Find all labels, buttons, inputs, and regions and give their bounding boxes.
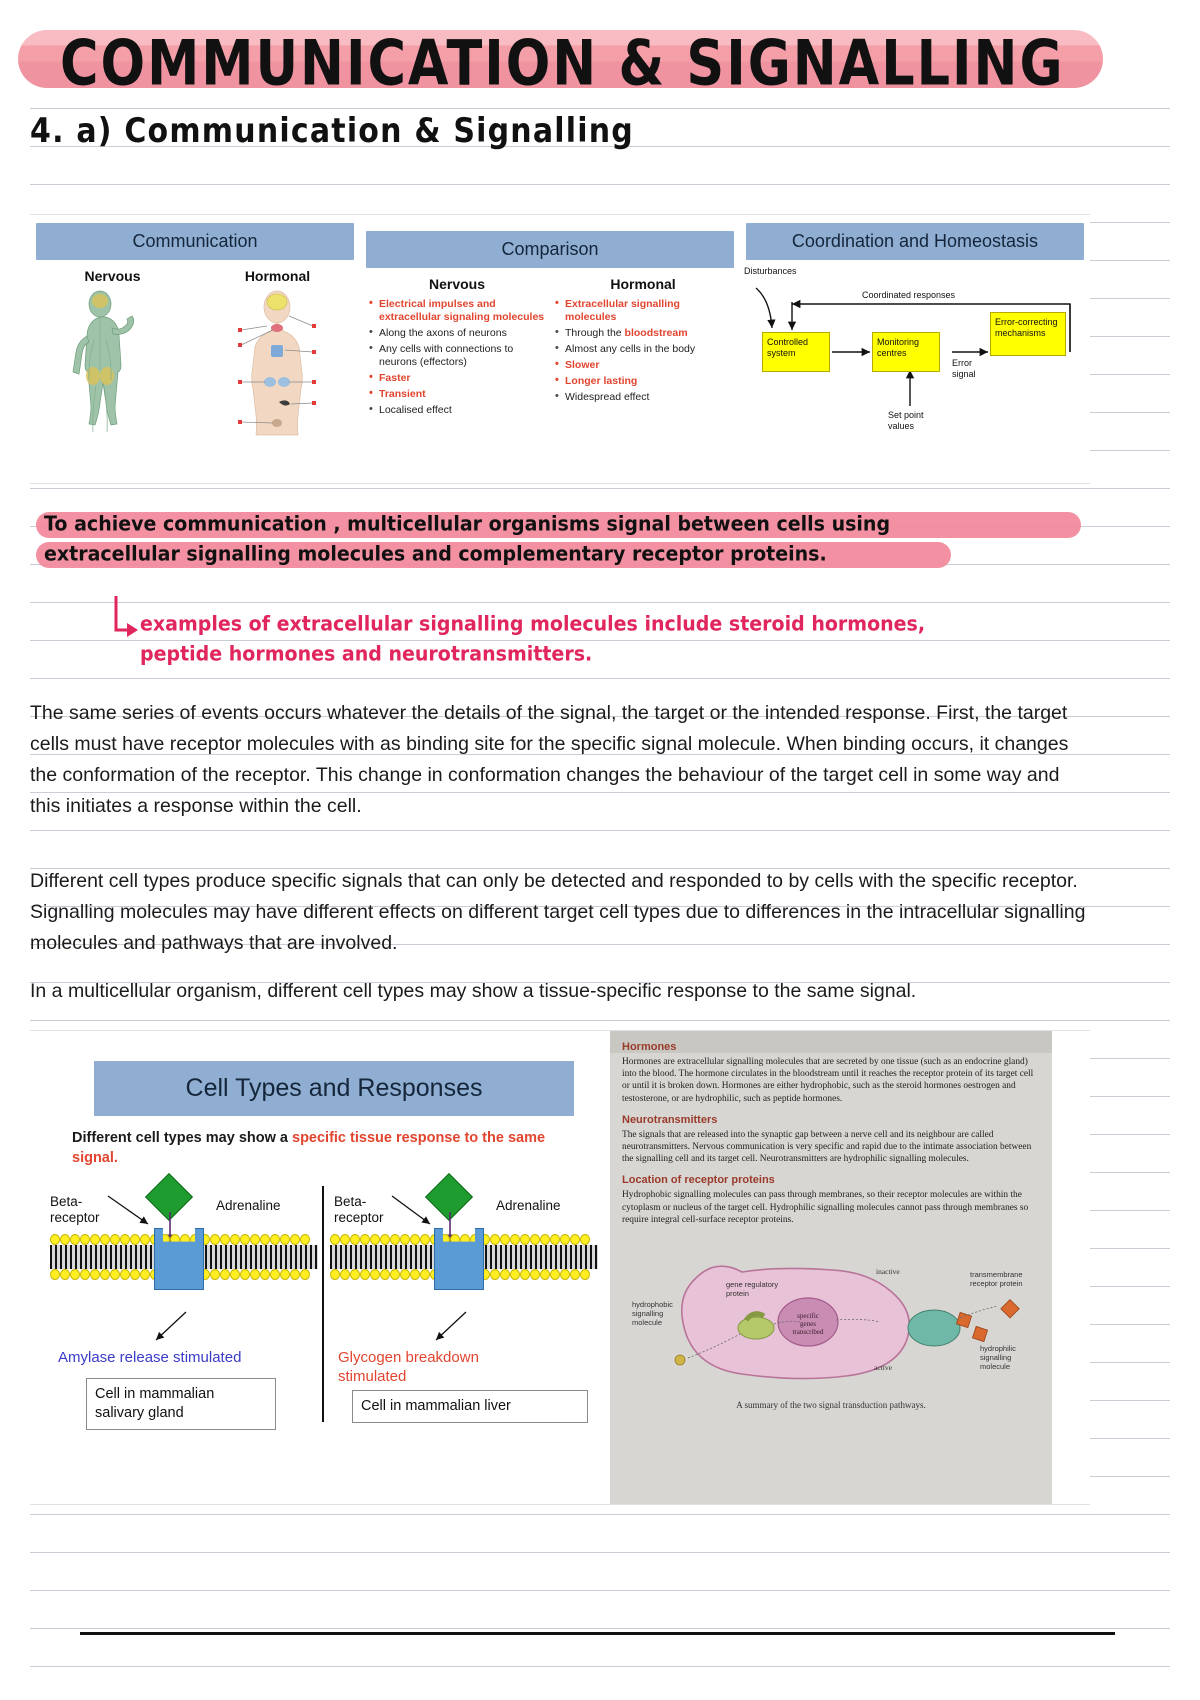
textbook-body-neurotransmitters: The signals that are released into the s…	[622, 1129, 1040, 1166]
svg-text:genes: genes	[800, 1320, 816, 1328]
list-item: Localised effect	[368, 404, 546, 417]
cell-types-heading: Cell Types and Responses	[94, 1061, 574, 1116]
salivary-gland-scene: Beta-receptor Adrenaline	[50, 1172, 318, 1422]
figure-caption: A summary of the two signal transduction…	[622, 1400, 1040, 1410]
red-annotation-line-2: peptide hormones and neurotransmitters.	[140, 642, 592, 666]
nervous-column-label: Nervous	[37, 268, 189, 284]
page-title: COMMUNICATION & SIGNALLING	[60, 28, 1090, 101]
list-item: Along the axons of neurons	[368, 327, 546, 340]
svg-text:transcribed: transcribed	[792, 1328, 824, 1336]
list-item: Extracellular signalling molecules	[554, 298, 732, 324]
flow-box-controlled-system: Controlled system	[762, 332, 830, 372]
slide-communication: Communication Nervous	[30, 215, 360, 483]
comparison-nervous-list: Electrical impulses and extracellular si…	[368, 298, 546, 417]
hormonal-column-label: Hormonal	[202, 268, 354, 284]
flow-box-error-correcting: Error-correcting mechanisms	[990, 312, 1066, 356]
communication-column-hormonal: Hormonal	[202, 268, 354, 442]
list-item: Slower	[554, 359, 732, 372]
list-item: Electrical impulses and extracellular si…	[368, 298, 546, 324]
textbook-heading-neurotransmitters: Neurotransmitters	[622, 1114, 1040, 1126]
textbook-body-receptor-location: Hydrophobic signalling molecules can pas…	[622, 1189, 1040, 1226]
adrenaline-diamond-icon	[425, 1173, 473, 1221]
paragraph-cell-specificity: Different cell types produce specific si…	[30, 866, 1092, 959]
left-signal-label: Adrenaline	[216, 1198, 281, 1214]
communication-figures: Nervous	[30, 268, 360, 442]
scene-divider	[322, 1186, 324, 1422]
left-cell-box: Cell in mammalian salivary gland	[86, 1378, 276, 1430]
list-item: Almost any cells in the body	[554, 343, 732, 356]
comparison-hormonal-list: Extracellular signalling molecules Throu…	[554, 298, 732, 404]
paragraph-tissue-specific: In a multicellular organism, different c…	[30, 976, 1092, 1007]
figure-label-transmembrane-receptor: transmembrane receptor protein	[970, 1270, 1034, 1288]
slide-communication-heading: Communication	[36, 223, 354, 260]
highlighted-statement-line-1: To achieve communication , multicellular…	[44, 512, 890, 536]
list-item: Longer lasting	[554, 375, 732, 388]
left-receptor-label: Beta-receptor	[50, 1194, 114, 1226]
figure-label-hydrophilic: hydrophilic signalling molecule	[980, 1344, 1036, 1371]
nervous-system-figure	[66, 290, 158, 440]
membrane-scene: Beta-receptor Adrenaline	[44, 1172, 596, 1422]
slide-strip: Communication Nervous	[30, 214, 1090, 484]
list-item: Through the bloodstream	[554, 327, 732, 340]
list-item: Any cells with connections to neurons (e…	[368, 343, 546, 369]
comparison-column-nervous: Nervous Electrical impulses and extracel…	[368, 276, 546, 420]
slide-comparison-heading: Comparison	[366, 231, 734, 268]
liver-cell-scene: Beta-receptor Adrenaline	[330, 1172, 598, 1422]
communication-column-nervous: Nervous	[37, 268, 189, 442]
svg-text:active: active	[874, 1363, 893, 1372]
highlighted-statement: To achieve communication , multicellular…	[30, 508, 1090, 578]
right-cell-box: Cell in mammalian liver	[352, 1390, 588, 1423]
list-item: Widespread effect	[554, 391, 732, 404]
slide-cell-types: Cell Types and Responses Different cell …	[30, 1031, 610, 1504]
title-block: COMMUNICATION & SIGNALLING	[0, 22, 1120, 98]
right-receptor-label: Beta-receptor	[334, 1194, 398, 1226]
flow-box-monitoring-centres: Monitoring centres	[872, 332, 940, 372]
comparison-hormonal-label: Hormonal	[554, 276, 732, 292]
endocrine-system-figure	[227, 290, 327, 442]
flow-label-set-point: Set point values	[888, 410, 940, 432]
highlighted-statement-line-2: extracellular signalling molecules and c…	[44, 542, 827, 566]
list-item: Transient	[368, 388, 546, 401]
cell-types-subtitle: Different cell types may show a specific…	[72, 1128, 572, 1168]
slide-homeostasis: Coordination and Homeostasis	[740, 215, 1090, 483]
comparison-column-hormonal: Hormonal Extracellular signalling molecu…	[554, 276, 732, 420]
figure-label-gene-regulatory: gene regulatory protein	[726, 1280, 782, 1298]
svg-text:specific: specific	[797, 1312, 819, 1320]
textbook-heading-hormones: Hormones	[622, 1041, 1040, 1053]
slide-homeostasis-heading: Coordination and Homeostasis	[746, 223, 1084, 260]
right-response-label: Glycogen breakdown stimulated	[338, 1348, 518, 1386]
textbook-body-hormones: Hormones are extracellular signalling mo…	[622, 1056, 1040, 1105]
textbook-heading-receptor-location: Location of receptor proteins	[622, 1174, 1040, 1186]
flow-label-coordinated-responses: Coordinated responses	[862, 290, 955, 301]
cell-types-subtitle-plain: Different cell types may show a	[72, 1130, 292, 1146]
paragraph-signal-events: The same series of events occurs whateve…	[30, 698, 1092, 822]
homeostasis-flowchart: Disturbances Coordinated responses Contr…	[740, 266, 1090, 466]
slide-comparison: Comparison Nervous Electrical impulses a…	[360, 215, 740, 483]
figure-label-hydrophobic: hydrophobic signalling molecule	[632, 1300, 684, 1327]
signal-transduction-figure: specific genes transcribed	[622, 1236, 1040, 1412]
footer-rule	[80, 1632, 1115, 1635]
comparison-columns: Nervous Electrical impulses and extracel…	[360, 276, 740, 420]
comparison-nervous-label: Nervous	[368, 276, 546, 292]
flow-label-disturbances: Disturbances	[744, 266, 797, 277]
left-response-label: Amylase release stimulated	[58, 1348, 308, 1367]
bottom-figure-strip: Cell Types and Responses Different cell …	[30, 1030, 1090, 1505]
svg-text:inactive: inactive	[876, 1267, 900, 1276]
textbook-inner: Hormones Hormones are extracellular sign…	[610, 1031, 1052, 1412]
red-annotation-line-1: examples of extracellular signalling mol…	[140, 612, 925, 636]
textbook-extract: Hormones Hormones are extracellular sign…	[610, 1031, 1052, 1504]
list-item: Faster	[368, 372, 546, 385]
section-subtitle: 4. a) Communication & Signalling	[30, 112, 634, 151]
flow-label-error-signal: Error signal	[952, 358, 996, 380]
right-signal-label: Adrenaline	[496, 1198, 561, 1214]
adrenaline-diamond-icon	[145, 1173, 193, 1221]
